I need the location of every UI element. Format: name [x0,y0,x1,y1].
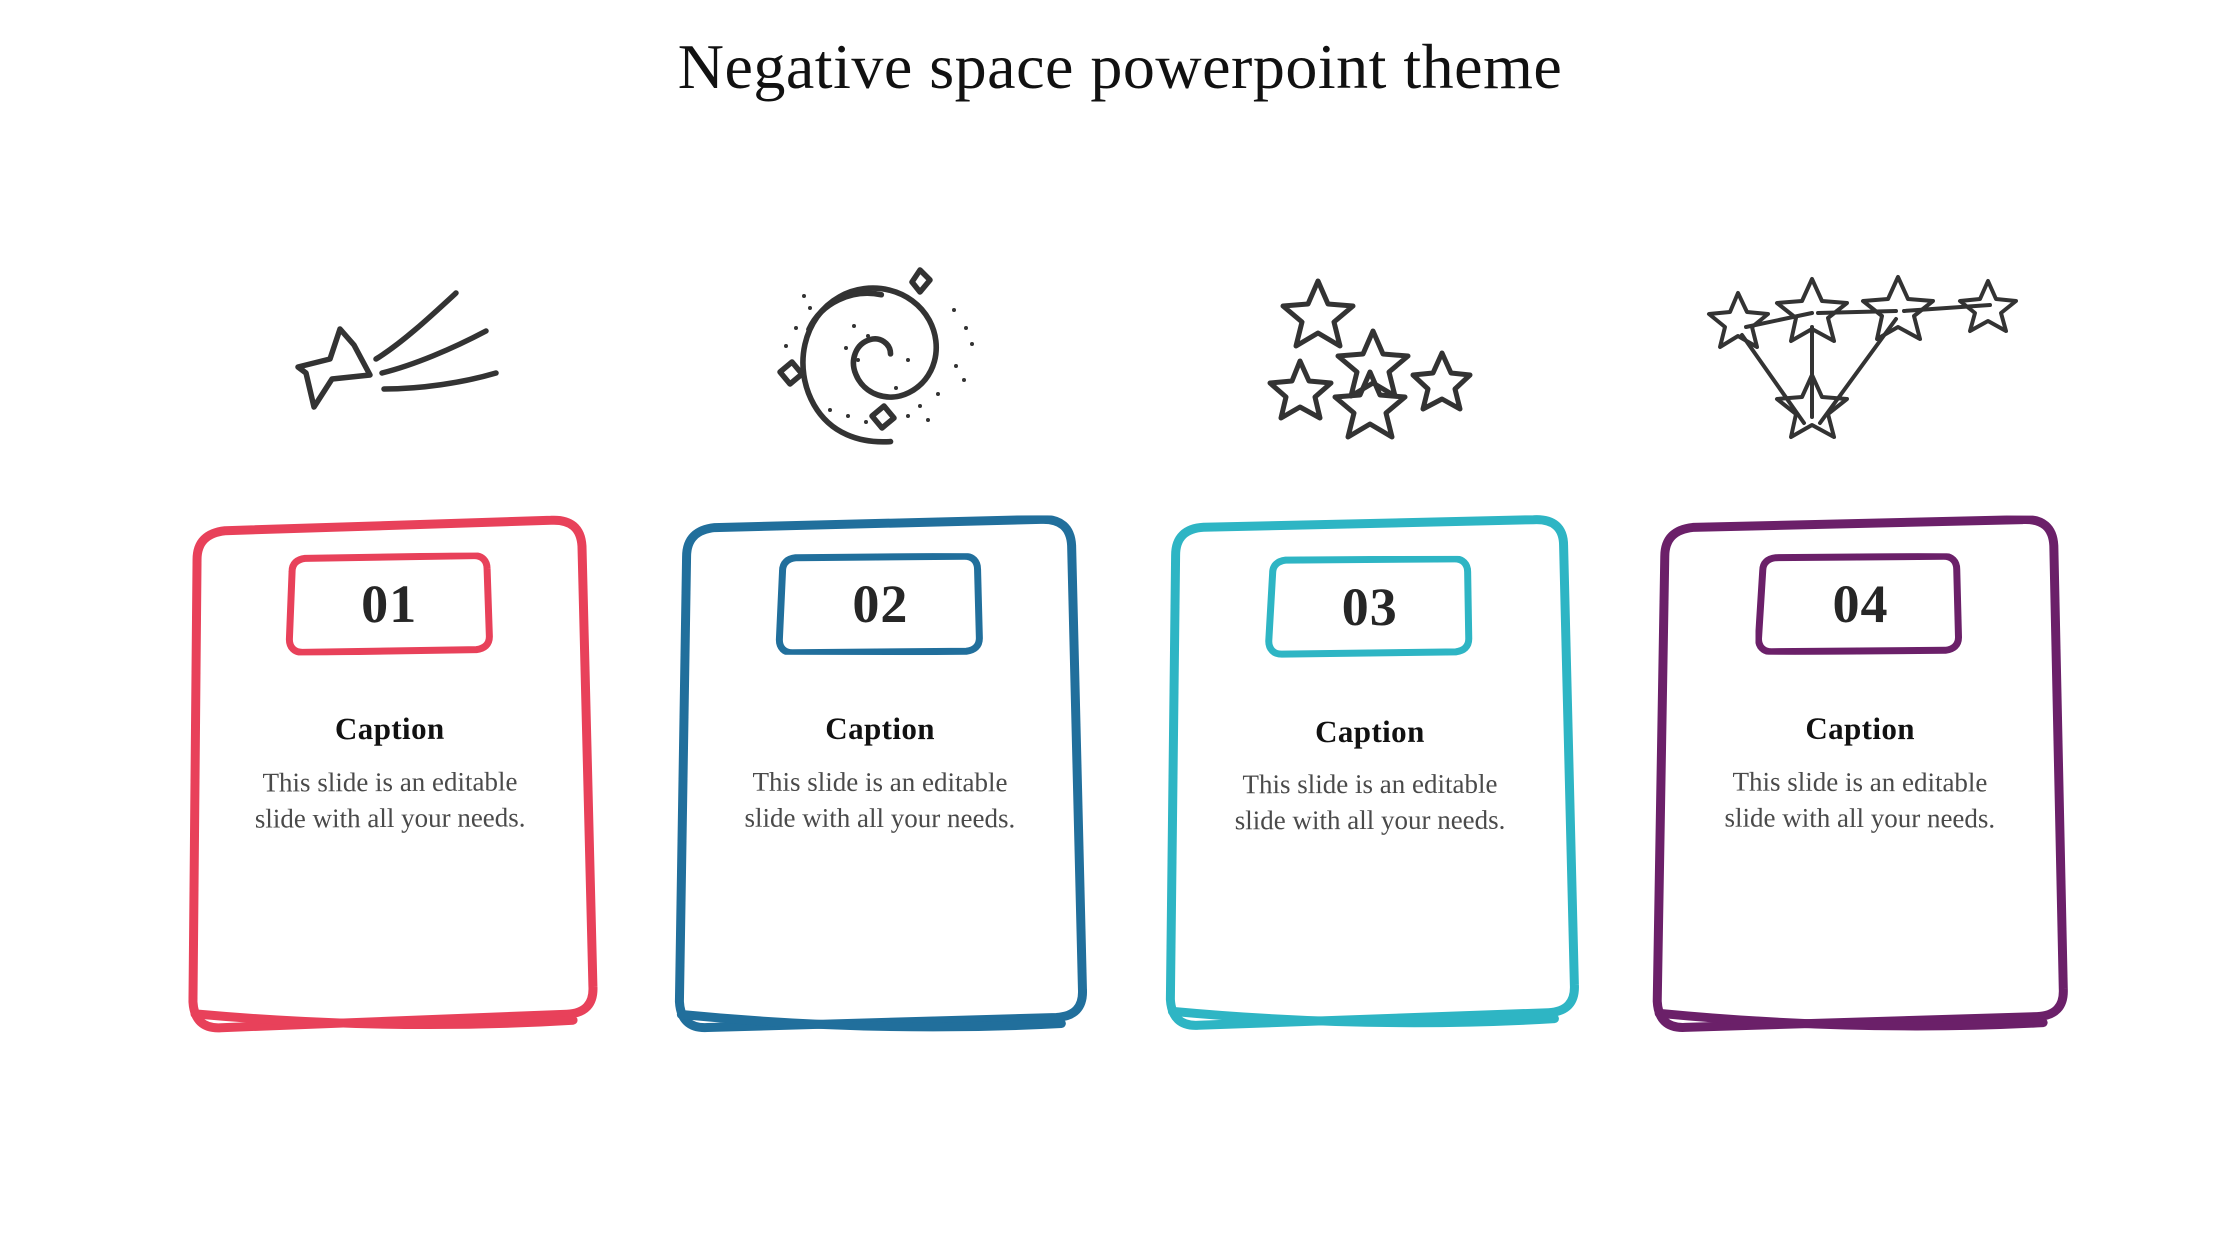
card-2-number: 02 [852,577,908,631]
card-1-description: This slide is an editable slide with all… [245,764,535,837]
card-1-number-chip: 01 [284,553,494,656]
card-3-caption: Caption [1315,714,1425,750]
card-4-number-chip: 04 [1755,553,1965,656]
card-3-body: 03 Caption This slide is an editable sli… [1160,515,1581,1046]
card-4[interactable]: 04 Caption This slide is an editable sli… [1649,514,2071,1045]
card-3[interactable]: 03 Caption This slide is an editable sli… [1160,515,1581,1046]
card-2-caption: Caption [825,711,935,747]
shooting-star-icon [180,250,600,465]
card-2[interactable]: 02 Caption This slide is an editable sli… [669,514,1090,1045]
feature-column-4: 04 Caption This slide is an editable sli… [1650,250,2070,1080]
card-1[interactable]: 01 Caption This slide is an editable sli… [179,514,601,1046]
star-cluster-icon [1160,250,1580,465]
card-3-description: This slide is an editable slide with all… [1225,767,1515,839]
card-1-body: 01 Caption This slide is an editable sli… [179,514,601,1046]
galaxy-spiral-icon [670,250,1090,465]
slide-canvas: Negative space powerpoint theme [0,0,2240,1260]
card-1-caption: Caption [335,711,445,747]
card-3-number: 03 [1342,580,1398,634]
card-2-description: This slide is an editable slide with all… [735,765,1025,837]
card-3-number-chip: 03 [1265,556,1475,658]
card-2-number-chip: 02 [775,553,985,656]
card-4-number: 04 [1833,577,1889,631]
feature-column-1: 01 Caption This slide is an editable sli… [180,250,600,1080]
card-2-body: 02 Caption This slide is an editable sli… [669,514,1090,1045]
card-4-body: 04 Caption This slide is an editable sli… [1649,514,2071,1045]
card-4-caption: Caption [1805,711,1915,747]
constellation-icon [1650,250,2070,465]
card-4-description: This slide is an editable slide with all… [1715,764,2005,836]
page-title: Negative space powerpoint theme [0,30,2240,104]
feature-column-3: 03 Caption This slide is an editable sli… [1160,250,1580,1080]
feature-column-2: 02 Caption This slide is an editable sli… [670,250,1090,1080]
card-1-number: 01 [361,577,417,631]
